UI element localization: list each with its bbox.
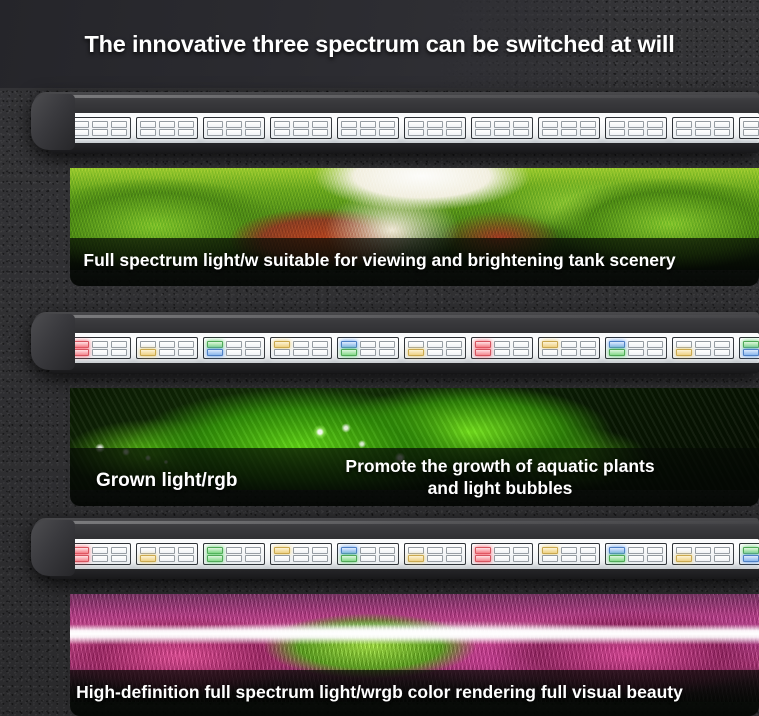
led-bar-wrgb[interactable] <box>33 518 759 580</box>
led-module <box>471 337 533 359</box>
led-module <box>739 543 759 565</box>
led-module <box>270 543 332 565</box>
led-module <box>270 117 332 139</box>
led-module <box>203 543 265 565</box>
fixture-end-cap <box>31 94 75 150</box>
caption-full-spectrum: Full spectrum light/w suitable for viewi… <box>0 250 759 271</box>
led-bar-full-spectrum[interactable] <box>33 92 759 154</box>
led-module <box>471 117 533 139</box>
led-module <box>404 337 466 359</box>
led-bar-grow-rgb[interactable] <box>33 312 759 374</box>
led-diffuser-strip <box>57 333 759 363</box>
led-module <box>203 117 265 139</box>
caption-grow-light-label: Grown light/rgb <box>96 470 237 492</box>
led-module <box>672 543 734 565</box>
led-module <box>337 117 399 139</box>
led-module <box>471 543 533 565</box>
led-module <box>136 543 198 565</box>
led-module <box>337 337 399 359</box>
led-diffuser-strip <box>57 539 759 569</box>
led-module <box>203 337 265 359</box>
led-module <box>270 337 332 359</box>
fixture-end-cap <box>31 314 75 370</box>
led-module <box>605 543 667 565</box>
led-module <box>538 543 600 565</box>
led-module <box>404 543 466 565</box>
led-module <box>538 337 600 359</box>
caption-grow-light-benefit: Promote the growth of aquatic plants and… <box>340 456 660 500</box>
led-module <box>69 337 131 359</box>
led-module <box>69 117 131 139</box>
led-module <box>739 337 759 359</box>
led-module <box>739 117 759 139</box>
led-module <box>69 543 131 565</box>
led-module <box>136 337 198 359</box>
led-module <box>404 117 466 139</box>
led-module <box>605 117 667 139</box>
led-module <box>672 337 734 359</box>
page-title: The innovative three spectrum can be swi… <box>0 0 759 88</box>
fixture-end-cap <box>31 520 75 576</box>
caption-wrgb: High-definition full spectrum light/wrgb… <box>0 682 759 703</box>
led-module <box>672 117 734 139</box>
led-module <box>136 117 198 139</box>
led-module <box>538 117 600 139</box>
led-diffuser-strip <box>57 113 759 143</box>
led-module <box>337 543 399 565</box>
led-module <box>605 337 667 359</box>
